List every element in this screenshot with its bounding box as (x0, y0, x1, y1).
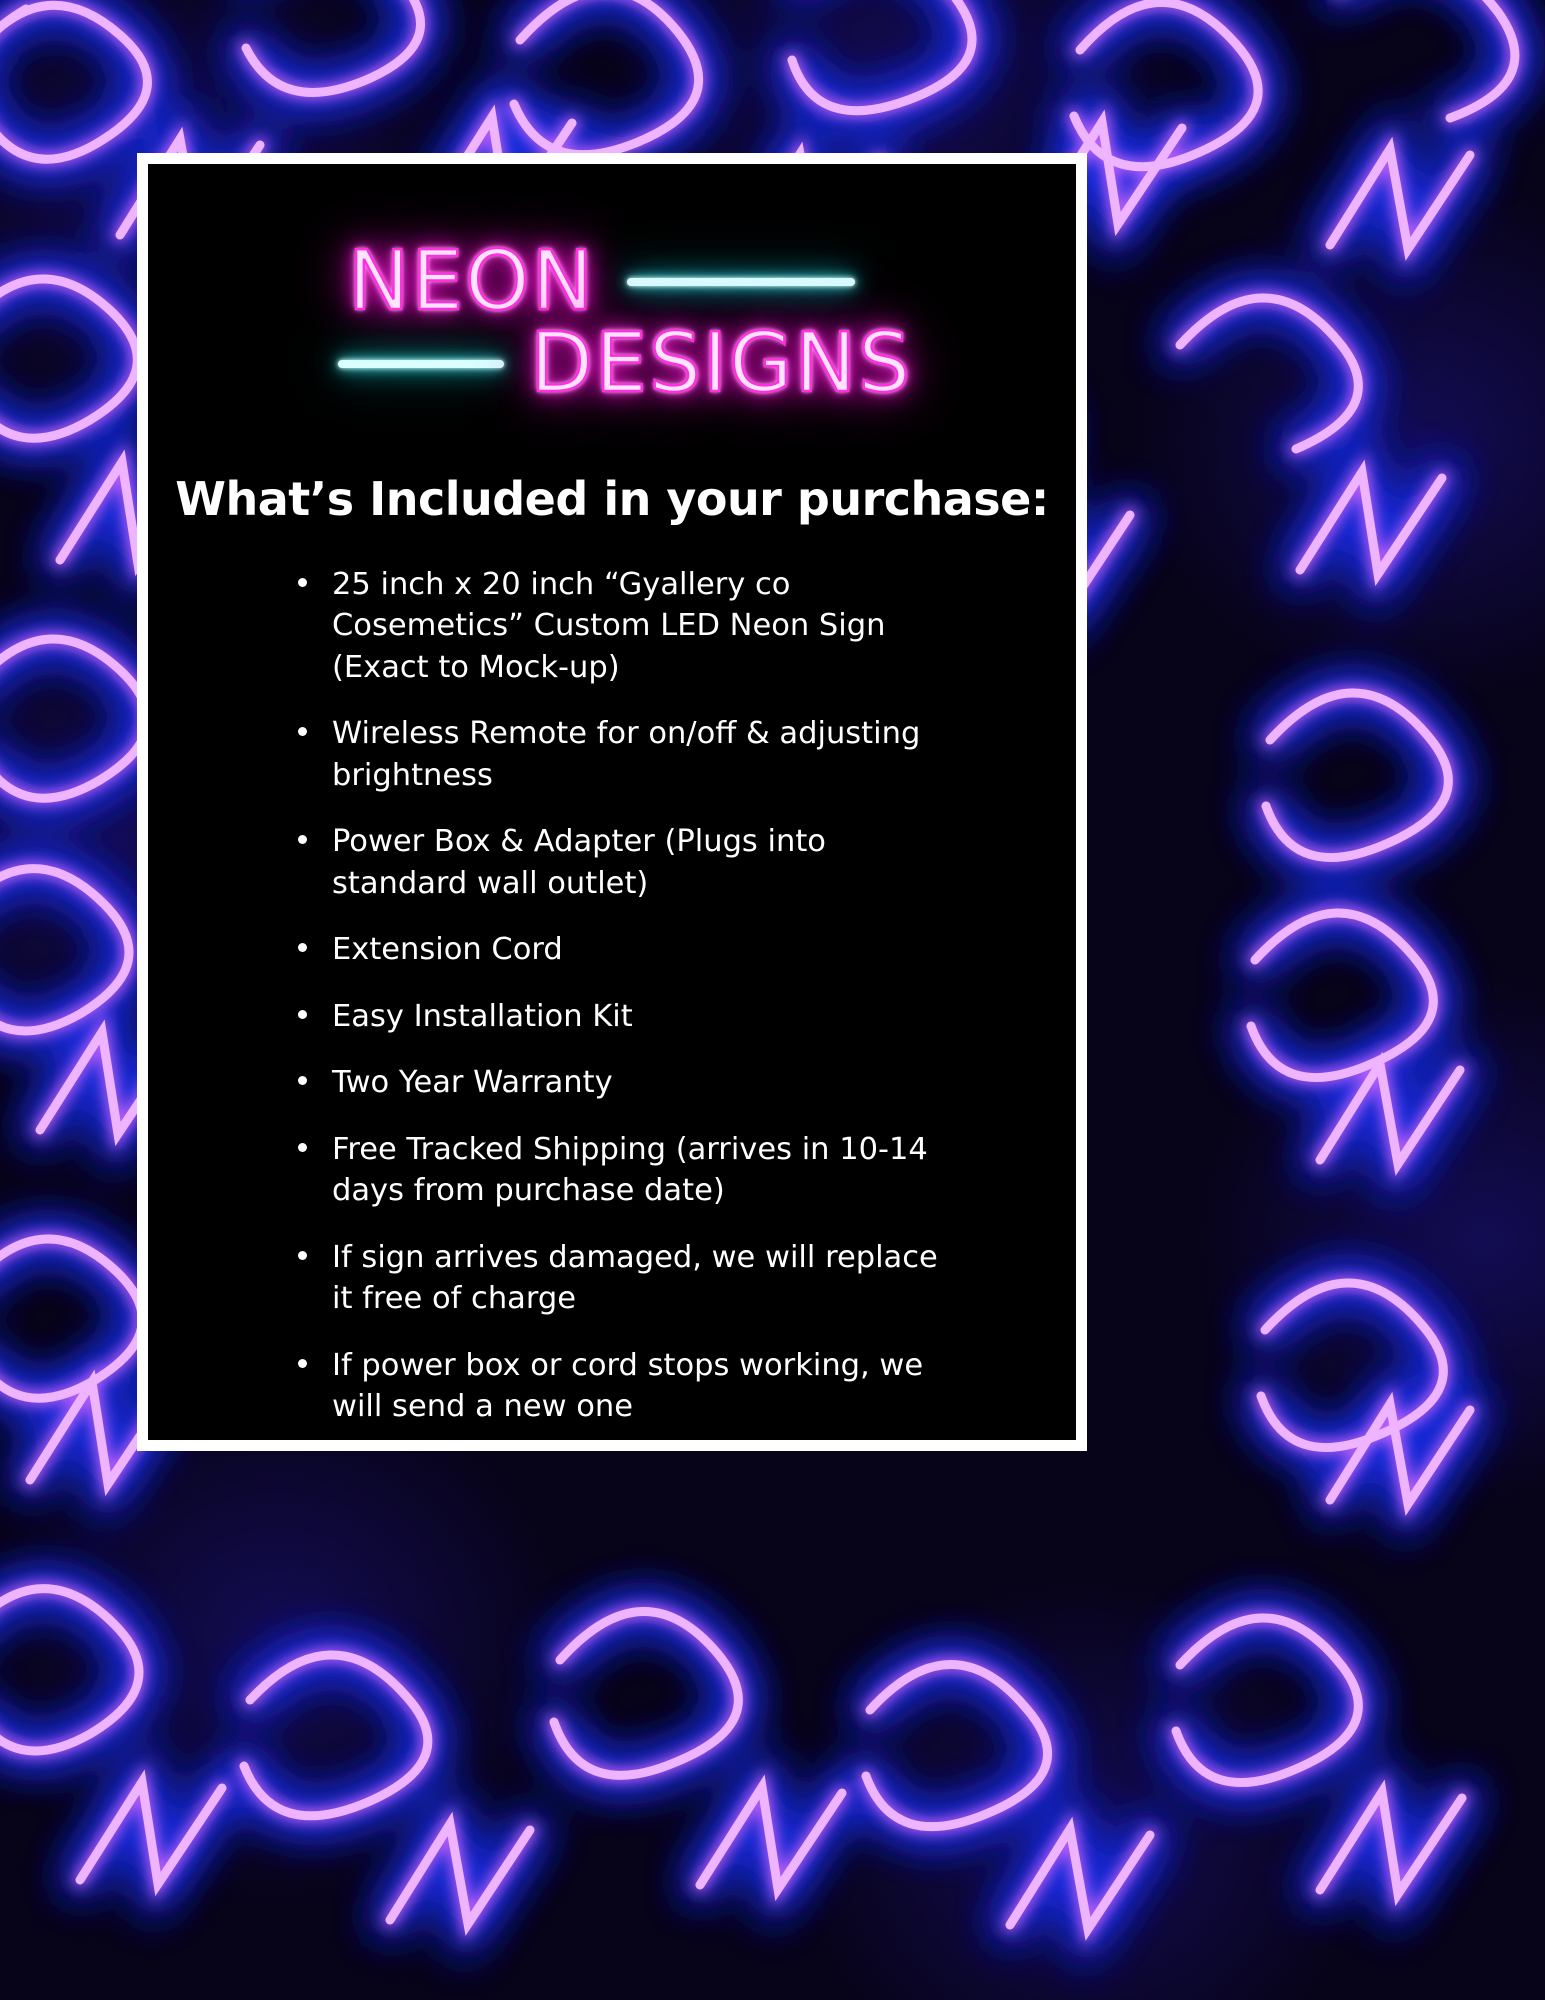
neon-designs-logo: NEON DESIGNS (148, 216, 1076, 446)
list-item-label: Extension Cord (332, 932, 563, 967)
poster-card: NEON DESIGNS What’s Included in your pur… (148, 164, 1076, 1440)
list-item: Extension Cord (298, 929, 938, 970)
bullet-dot-icon (298, 943, 307, 952)
cyan-bar-left-icon (338, 360, 504, 368)
list-item-label: 25 inch x 20 inch “Gyallery co Cosemetic… (332, 567, 885, 685)
logo-line-1: NEON (348, 234, 855, 329)
list-item: Free Tracked Shipping (arrives in 10-14 … (298, 1129, 938, 1212)
poster-card-frame: NEON DESIGNS What’s Included in your pur… (137, 153, 1087, 1451)
bullet-dot-icon (298, 1359, 307, 1368)
list-item-label: Two Year Warranty (332, 1065, 613, 1100)
list-item-label: Wireless Remote for on/off & adjusting b… (332, 716, 920, 792)
list-item-label: If power box or cord stops working, we w… (332, 1348, 923, 1424)
list-item: Wireless Remote for on/off & adjusting b… (298, 713, 938, 796)
list-item-label: Easy Installation Kit (332, 999, 633, 1034)
list-item: Easy Installation Kit (298, 996, 938, 1037)
bullet-dot-icon (298, 835, 307, 844)
page-title: What’s Included in your purchase: (148, 472, 1076, 526)
list-item: 25 inch x 20 inch “Gyallery co Cosemetic… (298, 564, 938, 688)
poster-page: NEON DESIGNS What’s Included in your pur… (0, 0, 1545, 2000)
logo-line-2: DESIGNS (338, 316, 912, 411)
list-item-label: Power Box & Adapter (Plugs into standard… (332, 824, 826, 900)
bullet-dot-icon (298, 727, 307, 736)
logo-word-neon: NEON (348, 234, 595, 329)
cyan-bar-right-icon (627, 278, 855, 286)
bullet-dot-icon (298, 578, 307, 587)
bullet-dot-icon (298, 1251, 307, 1260)
list-item-label: If sign arrives damaged, we will replace… (332, 1240, 938, 1316)
list-item: Two Year Warranty (298, 1062, 938, 1103)
list-item: Power Box & Adapter (Plugs into standard… (298, 821, 938, 904)
included-items-list: 25 inch x 20 inch “Gyallery co Cosemetic… (148, 564, 1076, 1428)
logo-word-designs: DESIGNS (530, 316, 912, 411)
bullet-dot-icon (298, 1076, 307, 1085)
list-item: If sign arrives damaged, we will replace… (298, 1237, 938, 1320)
list-item: If power box or cord stops working, we w… (298, 1345, 938, 1428)
list-item-label: Free Tracked Shipping (arrives in 10-14 … (332, 1132, 928, 1208)
bullet-dot-icon (298, 1143, 307, 1152)
bullet-dot-icon (298, 1010, 307, 1019)
